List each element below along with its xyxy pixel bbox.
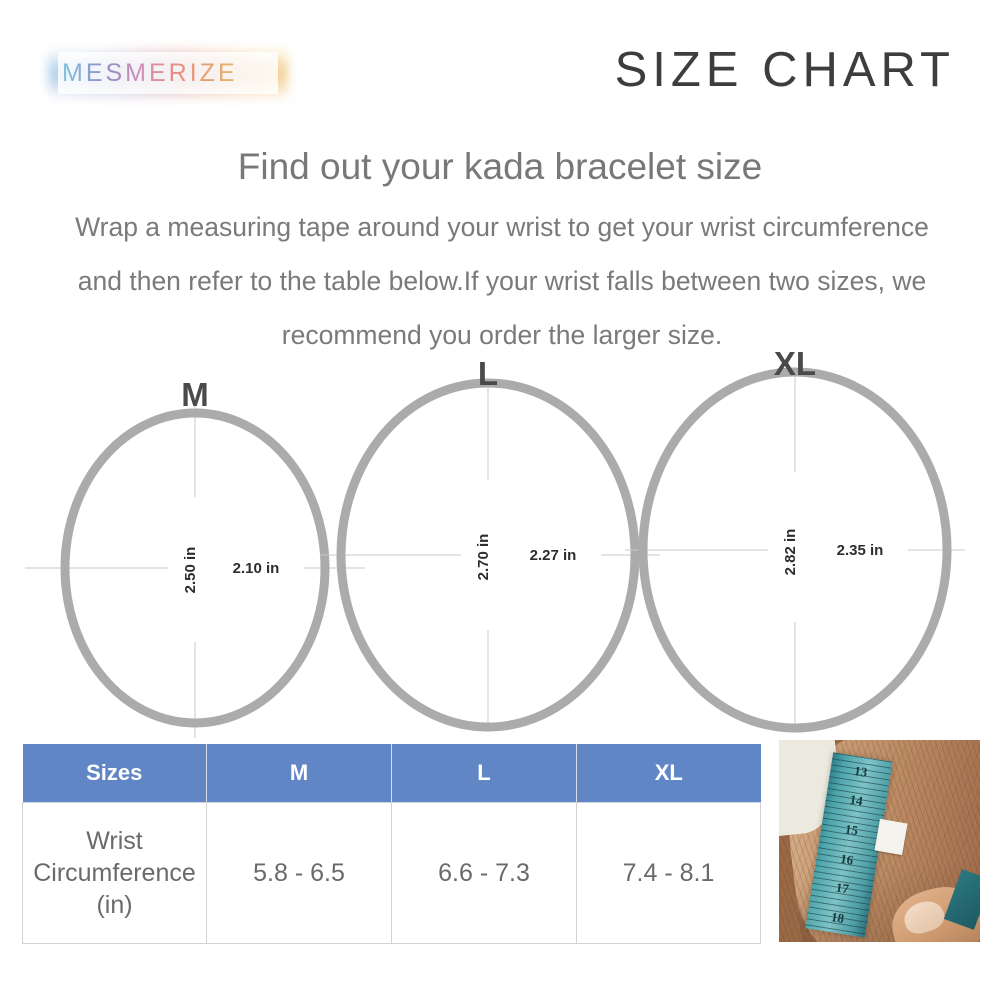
- row-label-wrist-circumference: Wrist Circumference (in): [23, 803, 207, 944]
- table-header-l: L: [392, 744, 577, 803]
- oval-height-label-l: 2.70 in: [475, 534, 492, 581]
- tape-number: 15: [844, 821, 859, 839]
- table-header-xl: XL: [577, 744, 761, 803]
- tape-number: 13: [853, 763, 868, 781]
- oval-width-label-m: 2.10 in: [233, 560, 280, 577]
- cell-wrist-m: 5.8 - 6.5: [207, 803, 392, 944]
- oval-group-m: 2.50 in 2.10 in M: [25, 376, 365, 738]
- oval-group-xl: 2.82 in 2.35 in XL: [625, 345, 965, 730]
- oval-height-label-xl: 2.82 in: [782, 529, 799, 576]
- oval-label-l: L: [478, 355, 498, 392]
- intro-paragraph: Wrap a measuring tape around your wrist …: [52, 200, 952, 362]
- oval-label-xl: XL: [774, 345, 816, 382]
- table-row: Wrist Circumference (in) 5.8 - 6.5 6.6 -…: [23, 803, 761, 944]
- brand-logo: MESMERIZE: [48, 44, 288, 102]
- tape-number: 18: [830, 909, 845, 927]
- bracelet-size-diagram: 2.50 in 2.10 in M 2.70 in 2.27 in L 2.82…: [0, 340, 1000, 740]
- tape-number: 16: [839, 851, 854, 869]
- tape-number: 17: [835, 880, 850, 898]
- oval-width-label-l: 2.27 in: [530, 547, 577, 564]
- oval-width-label-xl: 2.35 in: [837, 542, 884, 559]
- tape-number: 14: [849, 792, 864, 810]
- table-header-m: M: [207, 744, 392, 803]
- oval-height-label-m: 2.50 in: [182, 547, 199, 594]
- headline: Find out your kada bracelet size: [0, 146, 1000, 188]
- oval-group-l: 2.70 in 2.27 in L: [320, 355, 660, 732]
- wrist-measurement-photo: 13 14 15 16 17 18: [779, 740, 980, 942]
- table-header-sizes: Sizes: [23, 744, 207, 803]
- cell-wrist-xl: 7.4 - 8.1: [577, 803, 761, 944]
- size-table: Sizes M L XL Wrist Circumference (in) 5.…: [22, 744, 761, 944]
- page-title: SIZE CHART: [615, 42, 955, 98]
- cell-wrist-l: 6.6 - 7.3: [392, 803, 577, 944]
- oval-label-m: M: [181, 376, 209, 413]
- table-header-row: Sizes M L XL: [23, 744, 761, 803]
- logo-wordmark: MESMERIZE: [62, 59, 278, 88]
